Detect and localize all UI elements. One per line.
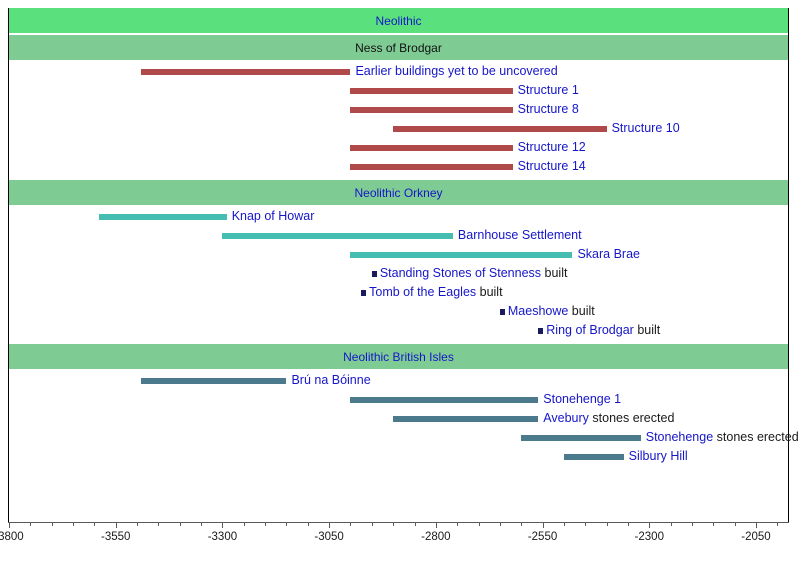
timeline-row-label[interactable]: Maeshowe built [508, 302, 595, 321]
x-axis-tick-major [756, 522, 757, 528]
x-axis-tick-minor [73, 522, 74, 526]
x-axis-tick-label: -2300 [635, 531, 664, 543]
x-axis-tick-label: -3800 [0, 531, 24, 543]
timeline-row-label-link[interactable]: Knap of Howar [232, 209, 315, 223]
timeline-row: Silbury Hill [0, 447, 800, 466]
timeline-row-label-suffix: built [568, 304, 594, 318]
x-axis-tick-minor [500, 522, 501, 526]
x-axis-tick-minor [415, 522, 416, 526]
x-axis-tick-minor [777, 522, 778, 526]
timeline-row-label[interactable]: Structure 8 [518, 100, 579, 119]
x-axis-tick-minor [244, 522, 245, 526]
timeline-row-label-link[interactable]: Brú na Bóinne [291, 373, 370, 387]
timeline-event-marker[interactable] [372, 271, 377, 277]
timeline-plot-area: NeolithicNess of BrodgarEarlier building… [0, 0, 800, 520]
timeline-bar[interactable] [350, 164, 512, 170]
timeline-row: Knap of Howar [0, 207, 800, 226]
x-axis-tick-minor [457, 522, 458, 526]
timeline-row: Brú na Bóinne [0, 371, 800, 390]
x-axis-tick-label: -3300 [208, 531, 237, 543]
timeline-row: Stonehenge 1 [0, 390, 800, 409]
timeline-row-label[interactable]: Standing Stones of Stenness built [380, 264, 568, 283]
timeline-bar[interactable] [350, 88, 512, 94]
timeline-bar[interactable] [141, 378, 286, 384]
era-band-neolithic: Neolithic [9, 8, 788, 33]
x-axis-tick-label: -3550 [101, 531, 130, 543]
x-axis-tick-label: -2550 [528, 531, 557, 543]
timeline-bar[interactable] [141, 69, 350, 75]
x-axis-tick-minor [372, 522, 373, 526]
x-axis-tick-minor [180, 522, 181, 526]
timeline-row: Ring of Brodgar built [0, 321, 800, 340]
x-axis-tick-minor [671, 522, 672, 526]
timeline-row-label-link[interactable]: Stonehenge [646, 430, 713, 444]
timeline-row-label[interactable]: Skara Brae [577, 245, 640, 264]
x-axis-tick-minor [350, 522, 351, 526]
x-axis-tick-minor [628, 522, 629, 526]
x-axis-tick-minor [521, 522, 522, 526]
x-axis-tick-minor [52, 522, 53, 526]
timeline-row-label[interactable]: Structure 12 [518, 138, 586, 157]
x-axis-tick-major [649, 522, 650, 528]
x-axis-tick-minor [158, 522, 159, 526]
timeline-row: Structure 1 [0, 81, 800, 100]
timeline-row-label[interactable]: Tomb of the Eagles built [369, 283, 502, 302]
timeline-row: Structure 12 [0, 138, 800, 157]
timeline-row: Skara Brae [0, 245, 800, 264]
timeline-bar[interactable] [564, 454, 624, 460]
section-band-neolithic-orkney[interactable]: Neolithic Orkney [9, 180, 788, 205]
timeline-row-label[interactable]: Structure 14 [518, 157, 586, 176]
timeline-row-label[interactable]: Structure 10 [612, 119, 680, 138]
x-axis-tick-minor [585, 522, 586, 526]
timeline-row-label[interactable]: Barnhouse Settlement [458, 226, 582, 245]
x-axis-tick-label: -3050 [314, 531, 343, 543]
timeline-row: Avebury stones erected [0, 409, 800, 428]
timeline-row-label-link[interactable]: Structure 1 [518, 83, 579, 97]
timeline-row-label[interactable]: Brú na Bóinne [291, 371, 370, 390]
timeline-bar[interactable] [222, 233, 452, 239]
timeline-row: Structure 14 [0, 157, 800, 176]
timeline-row-label-suffix: stones erected [713, 430, 798, 444]
timeline-row-label-suffix: stones erected [589, 411, 674, 425]
timeline-bar[interactable] [350, 252, 572, 258]
timeline-row-label-suffix: built [634, 323, 660, 337]
x-axis-tick-minor [607, 522, 608, 526]
x-axis-tick-minor [94, 522, 95, 526]
section-band-ness-of-brodgar[interactable]: Ness of Brodgar [9, 35, 788, 60]
x-axis-tick-label: -2800 [421, 531, 450, 543]
x-axis-tick-major [329, 522, 330, 528]
timeline-row-label-link[interactable]: Maeshowe [508, 304, 568, 318]
x-axis-tick-minor [735, 522, 736, 526]
timeline-row-label-link[interactable]: Standing Stones of Stenness [380, 266, 541, 280]
timeline-row: Barnhouse Settlement [0, 226, 800, 245]
timeline-row-label[interactable]: Silbury Hill [629, 447, 688, 466]
timeline-row-label[interactable]: Structure 1 [518, 81, 579, 100]
x-axis-tick-major [9, 522, 10, 528]
timeline-row: Maeshowe built [0, 302, 800, 321]
timeline-row: Tomb of the Eagles built [0, 283, 800, 302]
x-axis-ticks: -3800-3550-3300-3050-2800-2550-2300-2050 [0, 522, 800, 570]
timeline-row: Stonehenge stones erected [0, 428, 800, 447]
timeline-row-label-suffix: built [476, 285, 502, 299]
timeline-row-label[interactable]: Avebury stones erected [543, 409, 674, 428]
x-axis-tick-minor [692, 522, 693, 526]
timeline-row-label[interactable]: Ring of Brodgar built [546, 321, 660, 340]
timeline-row: Earlier buildings yet to be uncovered [0, 62, 800, 81]
timeline-row-label-link[interactable]: Tomb of the Eagles [369, 285, 476, 299]
timeline-row-label-suffix: built [541, 266, 567, 280]
timeline-bar[interactable] [350, 107, 512, 113]
x-axis-tick-minor [564, 522, 565, 526]
timeline-row-label-link[interactable]: Barnhouse Settlement [458, 228, 582, 242]
neolithic-timeline-chart: NeolithicNess of BrodgarEarlier building… [0, 0, 800, 570]
timeline-row-label[interactable]: Stonehenge stones erected [646, 428, 799, 447]
timeline-bar[interactable] [393, 416, 538, 422]
timeline-event-marker[interactable] [500, 309, 505, 315]
x-axis-tick-minor [479, 522, 480, 526]
timeline-row-label-link[interactable]: Structure 12 [518, 140, 586, 154]
timeline-bar[interactable] [350, 145, 512, 151]
timeline-bar[interactable] [393, 126, 606, 132]
x-axis-tick-minor [137, 522, 138, 526]
era-band-label: Neolithic [375, 14, 421, 28]
timeline-row-label-link[interactable]: Earlier buildings yet to be uncovered [355, 64, 557, 78]
x-axis-tick-major [543, 522, 544, 528]
timeline-row: Standing Stones of Stenness built [0, 264, 800, 283]
x-axis-tick-minor [308, 522, 309, 526]
x-axis-tick-minor [201, 522, 202, 526]
section-band-neolithic-british-isles[interactable]: Neolithic British Isles [9, 344, 788, 369]
timeline-row-label-link[interactable]: Structure 10 [612, 121, 680, 135]
timeline-row: Structure 10 [0, 119, 800, 138]
x-axis-tick-minor [393, 522, 394, 526]
section-band-label: Neolithic British Isles [343, 350, 454, 364]
timeline-bar[interactable] [99, 214, 227, 220]
timeline-bar[interactable] [521, 435, 641, 441]
timeline-row-label-link[interactable]: Ring of Brodgar [546, 323, 634, 337]
x-axis-tick-minor [713, 522, 714, 526]
x-axis-tick-label: -2050 [741, 531, 770, 543]
timeline-row-label-link[interactable]: Structure 8 [518, 102, 579, 116]
timeline-event-marker[interactable] [361, 290, 366, 296]
timeline-row-label-link[interactable]: Stonehenge 1 [543, 392, 621, 406]
timeline-row-label-link[interactable]: Avebury [543, 411, 589, 425]
timeline-bar[interactable] [350, 397, 538, 403]
x-axis-tick-minor [265, 522, 266, 526]
timeline-row: Structure 8 [0, 100, 800, 119]
x-axis-tick-minor [286, 522, 287, 526]
timeline-row-label[interactable]: Knap of Howar [232, 207, 315, 226]
x-axis-tick-major [222, 522, 223, 528]
timeline-event-marker[interactable] [538, 328, 543, 334]
section-band-label: Neolithic Orkney [354, 186, 442, 200]
x-axis-tick-minor [30, 522, 31, 526]
timeline-row-label-link[interactable]: Silbury Hill [629, 449, 688, 463]
timeline-row-label[interactable]: Earlier buildings yet to be uncovered [355, 62, 557, 81]
timeline-row-label-link[interactable]: Structure 14 [518, 159, 586, 173]
x-axis-tick-major [436, 522, 437, 528]
timeline-row-label-link[interactable]: Skara Brae [577, 247, 640, 261]
timeline-row-label[interactable]: Stonehenge 1 [543, 390, 621, 409]
x-axis-tick-major [116, 522, 117, 528]
section-band-label: Ness of Brodgar [355, 41, 442, 55]
